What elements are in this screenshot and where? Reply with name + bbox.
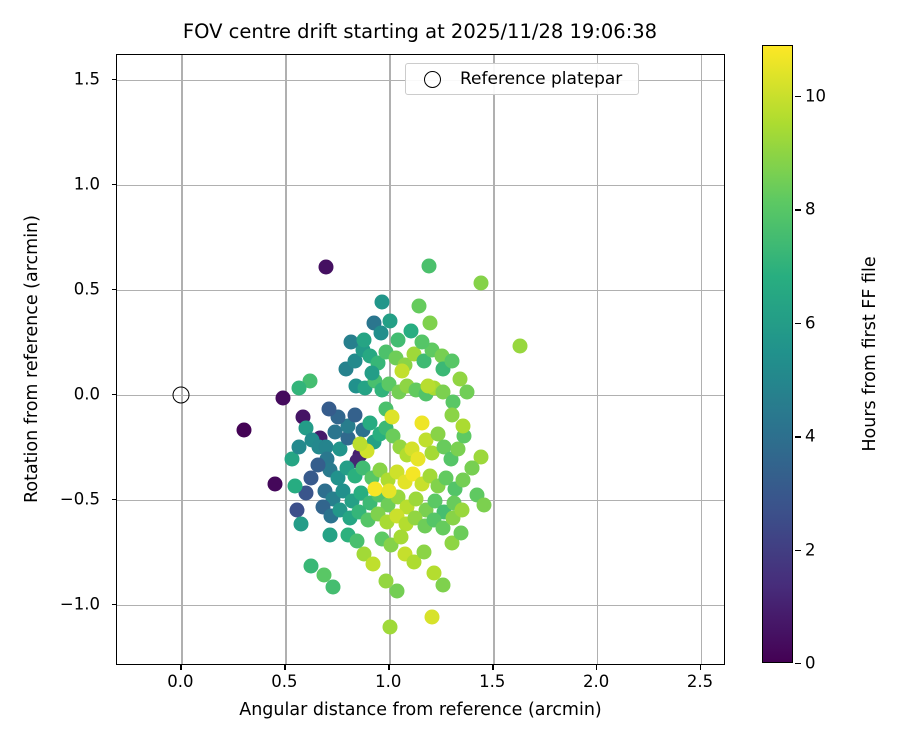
colorbar-tick-label: 2 <box>805 540 816 559</box>
chart-root: FOV centre drift starting at 2025/11/28 … <box>0 0 900 750</box>
colorbar-tick <box>795 663 801 664</box>
scatter-point <box>444 353 459 368</box>
y-axis-tick-label: 1.5 <box>0 70 100 89</box>
scatter-point <box>322 401 337 416</box>
scatter-point <box>347 408 362 423</box>
scatter-point <box>383 620 398 635</box>
scatter-point <box>422 315 437 330</box>
scatter-point <box>453 525 468 540</box>
colorbar-tick-label: 6 <box>805 313 816 332</box>
scatter-point <box>456 418 471 433</box>
colorbar-tick-label: 0 <box>805 654 816 673</box>
scatter-point <box>412 298 427 313</box>
chart-title: FOV centre drift starting at 2025/11/28 … <box>0 20 840 43</box>
y-axis-tick <box>112 289 117 290</box>
scatter-point <box>416 544 431 559</box>
x-axis-tick <box>284 665 285 670</box>
scatter-point <box>513 338 528 353</box>
y-axis-tick-label: 1.0 <box>0 175 100 194</box>
colorbar-tick <box>795 96 801 97</box>
scatter-point <box>291 380 306 395</box>
y-axis-tick-label: 0.0 <box>0 385 100 404</box>
y-axis-tick <box>112 184 117 185</box>
colorbar-tick <box>795 323 801 324</box>
x-axis-tick <box>700 665 701 670</box>
x-axis-tick-label: 2.0 <box>583 672 609 691</box>
y-axis-tick-label: 0.5 <box>0 280 100 299</box>
x-axis-tick-label: 2.5 <box>687 672 713 691</box>
legend-label: Reference platepar <box>460 69 628 89</box>
scatter-point <box>367 481 382 496</box>
x-axis-tick-label: 1.5 <box>479 672 505 691</box>
x-axis-tick <box>492 665 493 670</box>
x-axis-tick <box>180 665 181 670</box>
scatter-point <box>323 527 338 542</box>
scatter-point <box>414 416 429 431</box>
colorbar-tick-label: 10 <box>805 87 826 106</box>
colorbar-label: Hours from first FF file <box>860 159 880 354</box>
scatter-point <box>326 580 341 595</box>
scatter-point <box>289 502 304 517</box>
scatter-point <box>460 384 475 399</box>
scatter-point <box>364 366 379 381</box>
scatter-point <box>373 326 388 341</box>
gridline-vertical <box>493 55 494 664</box>
scatter-point <box>421 259 436 274</box>
scatter-point <box>293 517 308 532</box>
colorbar <box>762 45 793 663</box>
y-axis-label: Rotation from reference (arcmin) <box>22 71 42 359</box>
scatter-point <box>382 483 397 498</box>
scatter-point <box>393 529 408 544</box>
y-axis-tick <box>112 79 117 80</box>
y-axis-tick-label: −0.5 <box>0 490 100 509</box>
colorbar-tick <box>795 436 801 437</box>
scatter-point <box>318 259 333 274</box>
scatter-point <box>365 557 380 572</box>
scatter-point <box>436 578 451 593</box>
gridline-horizontal <box>117 605 724 606</box>
reference-platepar-marker-icon <box>173 387 190 404</box>
scatter-point <box>383 313 398 328</box>
gridline-vertical <box>285 55 286 664</box>
scatter-point <box>476 498 491 513</box>
y-axis-tick-label: −1.0 <box>0 595 100 614</box>
y-axis-tick <box>112 499 117 500</box>
colorbar-tick <box>795 550 801 551</box>
scatter-point <box>465 460 480 475</box>
legend-reference-marker-icon <box>424 71 441 88</box>
y-axis-tick <box>112 604 117 605</box>
scatter-point <box>375 294 390 309</box>
y-axis-tick <box>112 394 117 395</box>
gridline-vertical <box>701 55 702 664</box>
x-axis-label: Angular distance from reference (arcmin) <box>116 700 725 720</box>
scatter-point <box>455 502 470 517</box>
gridline-horizontal <box>117 290 724 291</box>
x-axis-tick-label: 0.0 <box>167 672 193 691</box>
x-axis-tick-label: 1.0 <box>375 672 401 691</box>
scatter-point <box>287 479 302 494</box>
scatter-point <box>389 584 404 599</box>
scatter-point <box>414 334 429 349</box>
scatter-point <box>424 609 439 624</box>
gridline-vertical <box>181 55 182 664</box>
scatter-point <box>390 332 405 347</box>
scatter-point <box>353 437 368 452</box>
x-axis-tick <box>388 665 389 670</box>
legend[interactable]: Reference platepar <box>405 63 639 95</box>
scatter-point <box>385 410 400 425</box>
scatter-point <box>350 534 365 549</box>
x-axis-tick-label: 0.5 <box>271 672 297 691</box>
scatter-point <box>236 422 251 437</box>
gridline-vertical <box>597 55 598 664</box>
scatter-point <box>394 363 409 378</box>
colorbar-tick-label: 8 <box>805 200 816 219</box>
plot-area <box>116 54 725 665</box>
x-axis-tick <box>596 665 597 670</box>
colorbar-tick <box>795 209 801 210</box>
colorbar-tick-label: 4 <box>805 427 816 446</box>
scatter-point <box>267 477 282 492</box>
scatter-point <box>276 391 291 406</box>
scatter-point <box>473 275 488 290</box>
scatter-point <box>420 378 435 393</box>
scatter-point <box>456 473 471 488</box>
scatter-point <box>343 334 358 349</box>
scatter-point <box>291 439 306 454</box>
gridline-horizontal <box>117 185 724 186</box>
scatter-point <box>304 471 319 486</box>
scatter-point <box>357 332 372 347</box>
